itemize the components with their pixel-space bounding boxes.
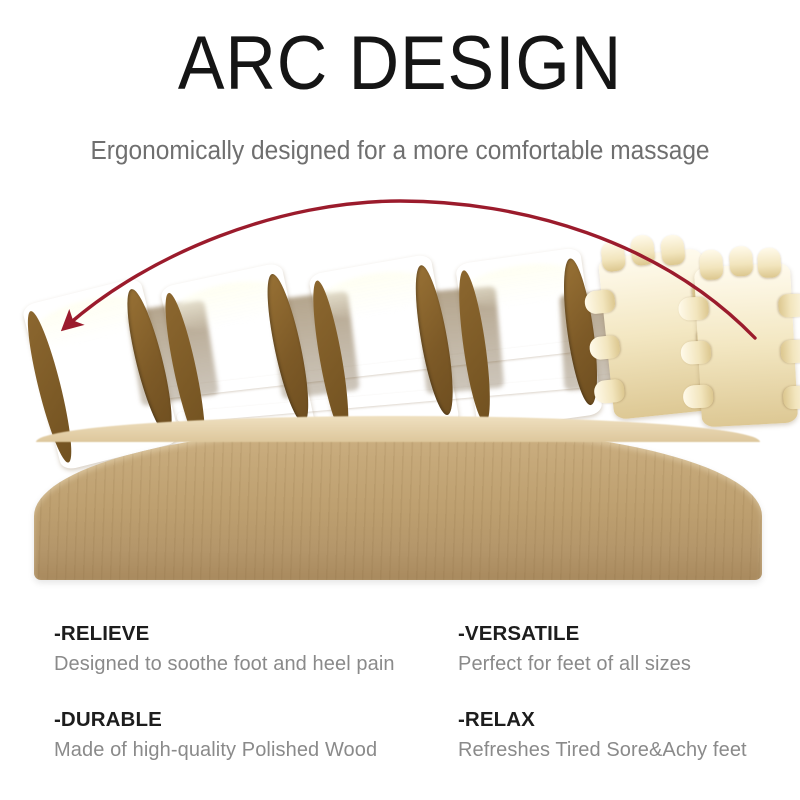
arc-path (68, 201, 755, 338)
feature-description: Made of high-quality Polished Wood (54, 738, 377, 762)
feature-description: Perfect for feet of all sizes (458, 652, 691, 676)
curved-arc-arrow (0, 185, 800, 605)
feature-description: Refreshes Tired Sore&Achy feet (458, 738, 747, 762)
feature-description: Designed to soothe foot and heel pain (54, 652, 395, 676)
page-subtitle: Ergonomically designed for a more comfor… (16, 136, 784, 168)
feature-item-relax: -RELAX Refreshes Tired Sore&Achy feet (458, 708, 747, 762)
feature-item-relieve: -RELIEVE Designed to soothe foot and hee… (54, 622, 395, 676)
feature-title: -RELAX (458, 708, 747, 732)
feature-list: -RELIEVE Designed to soothe foot and hee… (0, 612, 800, 782)
feature-title: -VERSATILE (458, 622, 691, 646)
product-photo (0, 185, 800, 605)
feature-item-durable: -DURABLE Made of high-quality Polished W… (54, 708, 377, 762)
feature-title: -RELIEVE (54, 622, 395, 646)
page-title: ARC DESIGN (32, 26, 768, 102)
feature-title: -DURABLE (54, 708, 377, 732)
product-infographic-page: ARC DESIGN Ergonomically designed for a … (0, 0, 800, 800)
feature-item-versatile: -VERSATILE Perfect for feet of all sizes (458, 622, 691, 676)
